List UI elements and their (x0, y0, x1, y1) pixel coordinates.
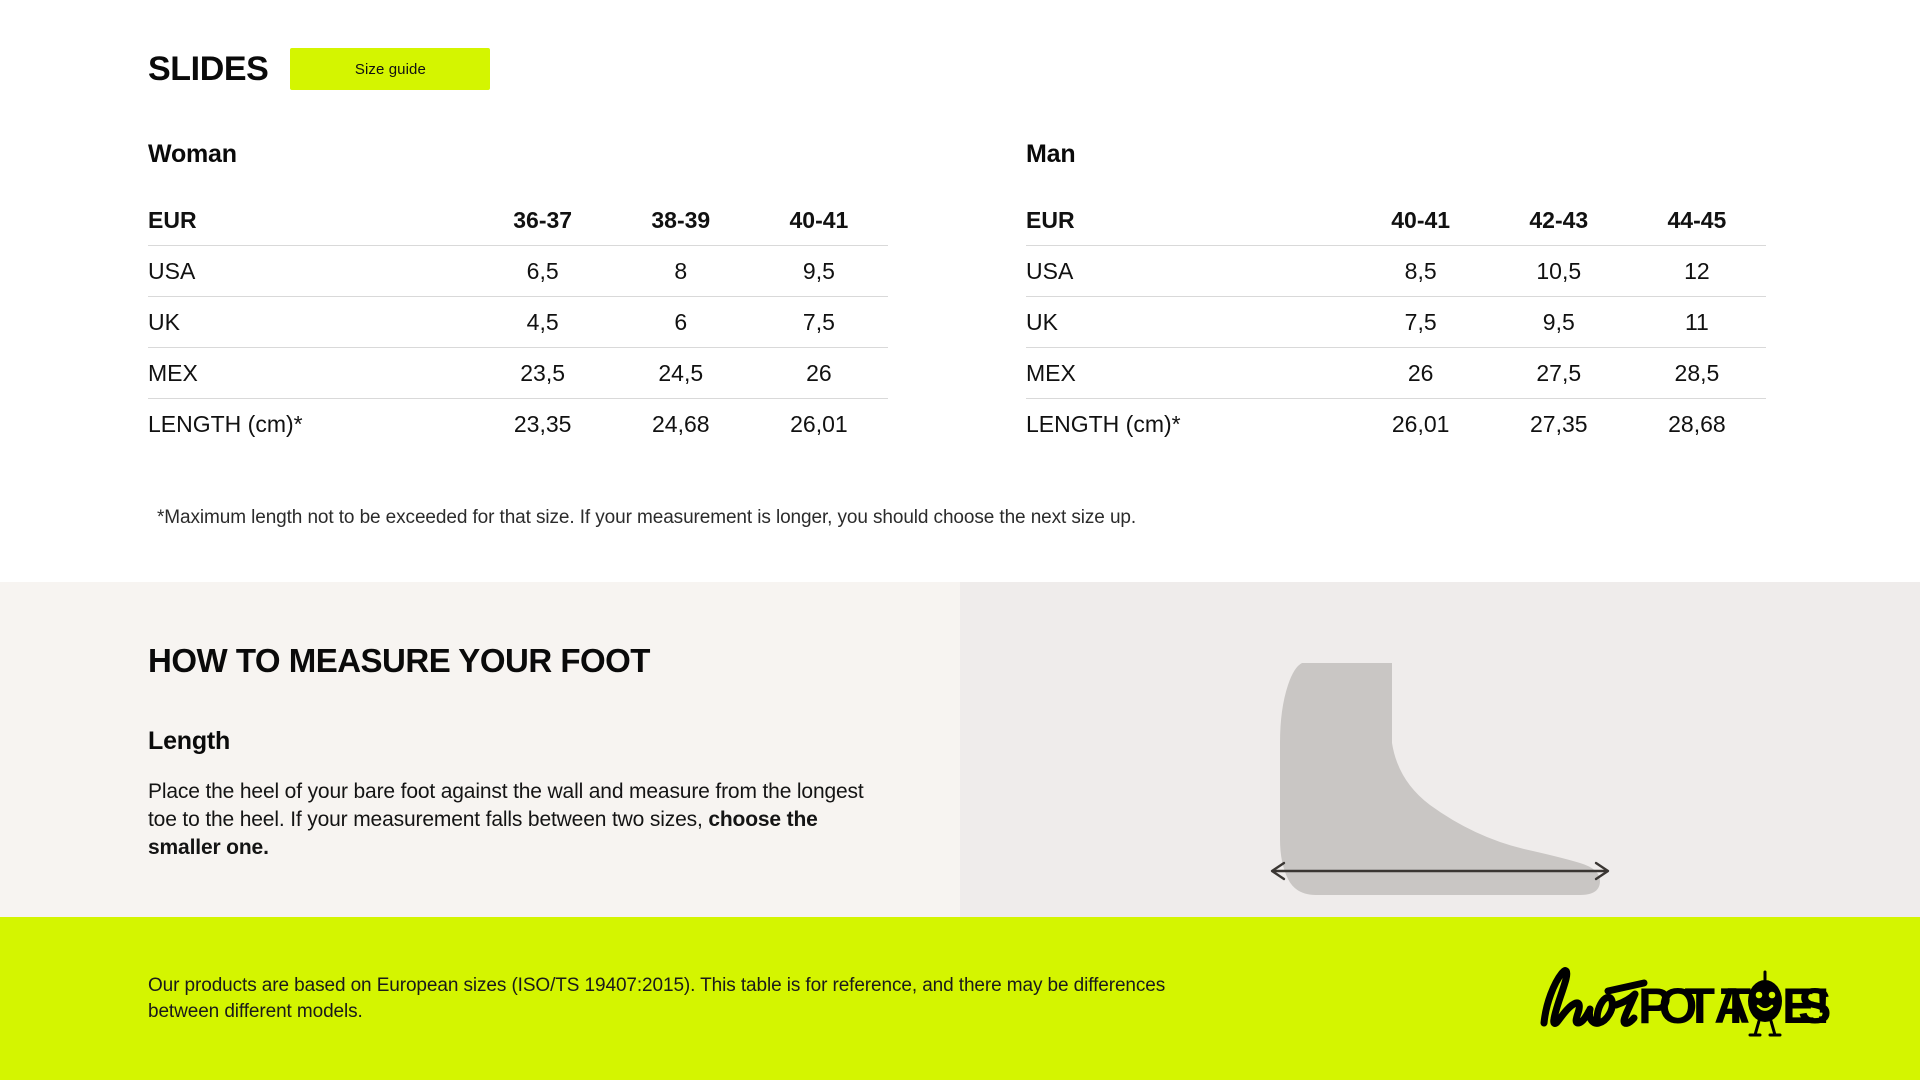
row-value: 6,5 (474, 246, 612, 297)
foot-illustration-icon (1250, 605, 1630, 895)
man-table-block: Man EUR 40-41 42-43 44-45 USA 8,5 (1026, 140, 1766, 449)
man-size-table: EUR 40-41 42-43 44-45 USA 8,5 10,5 12 (1026, 195, 1766, 449)
man-table-heading: Man (1026, 140, 1766, 169)
row-value: 8 (612, 246, 750, 297)
column-header: 38-39 (612, 195, 750, 246)
row-label: MEX (148, 348, 474, 399)
row-value: 24,68 (612, 399, 750, 450)
row-value: 7,5 (750, 297, 888, 348)
column-header: 44-45 (1628, 195, 1766, 246)
row-value: 26 (1352, 348, 1490, 399)
table-row: USA 6,5 8 9,5 (148, 246, 888, 297)
svg-text:AT: AT (1714, 978, 1750, 1034)
how-to-measure-section: HOW TO MEASURE YOUR FOOT Length Place th… (0, 582, 1920, 917)
measure-instructions: Place the heel of your bare foot against… (148, 778, 878, 862)
row-value: 7,5 (1352, 297, 1490, 348)
row-value: 26,01 (750, 399, 888, 450)
brand-logo-icon: POT AT ES! (1534, 961, 1834, 1037)
row-value: 23,35 (474, 399, 612, 450)
column-header: EUR (148, 195, 474, 246)
table-row: UK 4,5 6 7,5 (148, 297, 888, 348)
row-label: UK (148, 297, 474, 348)
row-value: 27,35 (1490, 399, 1628, 450)
row-label: USA (148, 246, 474, 297)
measure-illustration-panel (960, 582, 1920, 917)
row-value: 28,5 (1628, 348, 1766, 399)
row-label: USA (1026, 246, 1352, 297)
row-value: 4,5 (474, 297, 612, 348)
row-value: 12 (1628, 246, 1766, 297)
column-header: 40-41 (750, 195, 888, 246)
woman-table-block: Woman EUR 36-37 38-39 40-41 USA 6,5 (148, 140, 888, 449)
size-guide-page: SLIDES Size guide Woman EUR 36-37 38-39 … (0, 0, 1920, 1080)
measure-title: HOW TO MEASURE YOUR FOOT (148, 644, 960, 677)
row-value: 6 (612, 297, 750, 348)
footer-disclaimer: Our products are based on European sizes… (148, 973, 1228, 1024)
row-value: 8,5 (1352, 246, 1490, 297)
column-header: EUR (1026, 195, 1352, 246)
column-header: 36-37 (474, 195, 612, 246)
table-row: USA 8,5 10,5 12 (1026, 246, 1766, 297)
table-row: UK 7,5 9,5 11 (1026, 297, 1766, 348)
size-chart-section: SLIDES Size guide Woman EUR 36-37 38-39 … (0, 0, 1920, 582)
row-value: 9,5 (1490, 297, 1628, 348)
row-value: 26,01 (1352, 399, 1490, 450)
footer-bar: Our products are based on European sizes… (0, 917, 1920, 1080)
header-row: SLIDES Size guide (0, 0, 1920, 90)
row-value: 28,68 (1628, 399, 1766, 450)
row-value: 11 (1628, 297, 1766, 348)
row-value: 24,5 (612, 348, 750, 399)
table-header-row: EUR 36-37 38-39 40-41 (148, 195, 888, 246)
column-header: 42-43 (1490, 195, 1628, 246)
woman-size-table: EUR 36-37 38-39 40-41 USA 6,5 8 9,5 (148, 195, 888, 449)
size-guide-button[interactable]: Size guide (290, 48, 490, 90)
row-value: 10,5 (1490, 246, 1628, 297)
table-header-row: EUR 40-41 42-43 44-45 (1026, 195, 1766, 246)
row-label: MEX (1026, 348, 1352, 399)
page-title: SLIDES (148, 52, 268, 86)
svg-text:POT: POT (1638, 978, 1714, 1034)
row-label: UK (1026, 297, 1352, 348)
woman-table-heading: Woman (148, 140, 888, 169)
potato-character-icon (1748, 972, 1782, 1035)
size-tables-container: Woman EUR 36-37 38-39 40-41 USA 6,5 (0, 140, 1920, 449)
row-label: LENGTH (cm)* (1026, 399, 1352, 450)
column-header: 40-41 (1352, 195, 1490, 246)
table-row: MEX 23,5 24,5 26 (148, 348, 888, 399)
row-value: 9,5 (750, 246, 888, 297)
size-table-footnote: *Maximum length not to be exceeded for t… (0, 507, 1920, 529)
table-row: LENGTH (cm)* 23,35 24,68 26,01 (148, 399, 888, 450)
measure-text-panel: HOW TO MEASURE YOUR FOOT Length Place th… (0, 582, 960, 917)
row-value: 23,5 (474, 348, 612, 399)
table-row: MEX 26 27,5 28,5 (1026, 348, 1766, 399)
row-label: LENGTH (cm)* (148, 399, 474, 450)
row-value: 27,5 (1490, 348, 1628, 399)
row-value: 26 (750, 348, 888, 399)
hot-potatoes-logo: POT AT ES! (1534, 961, 1834, 1037)
table-row: LENGTH (cm)* 26,01 27,35 28,68 (1026, 399, 1766, 450)
svg-text:ES!: ES! (1782, 978, 1831, 1034)
measure-subtitle: Length (148, 727, 960, 756)
